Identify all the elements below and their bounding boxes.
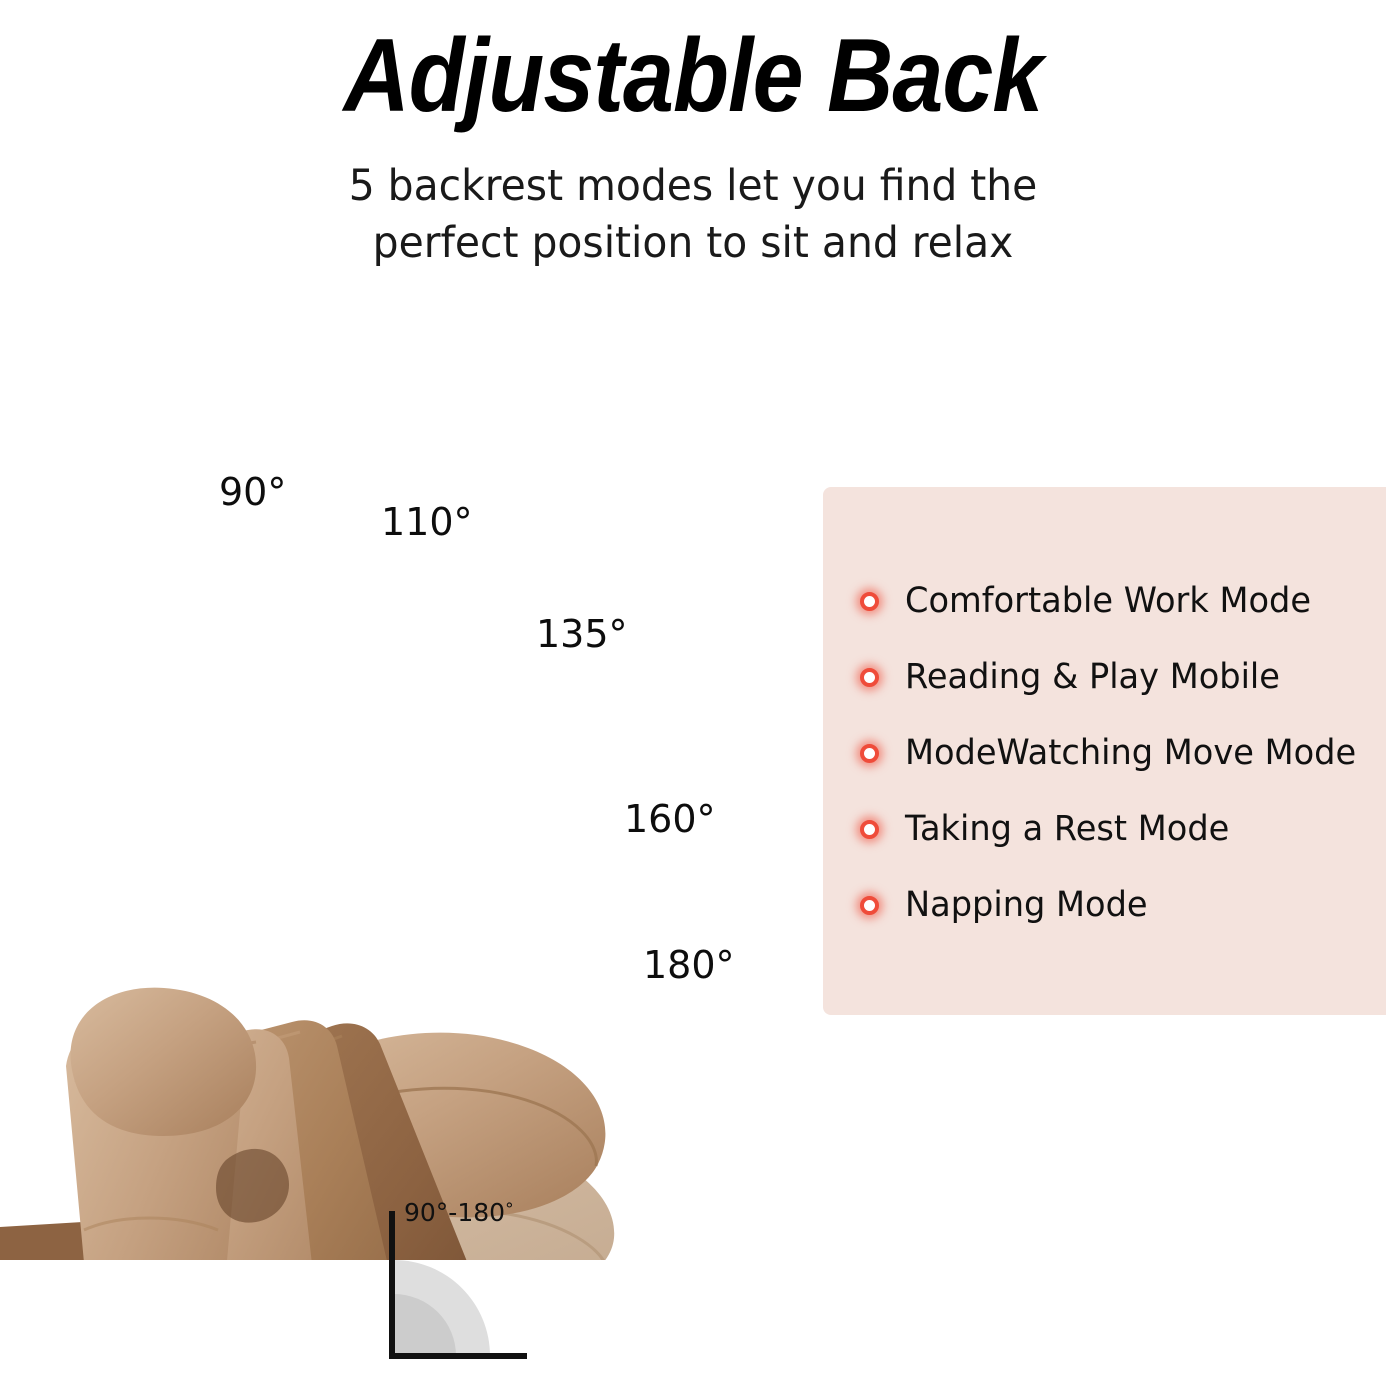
mode-list-item[interactable]: Taking a Rest Mode — [858, 791, 1386, 867]
mode-label: Napping Mode — [905, 888, 1148, 923]
mode-list-item[interactable]: Comfortable Work Mode — [858, 563, 1386, 639]
angle-label-160: 160° — [624, 797, 716, 841]
angle-label-135: 135° — [536, 612, 628, 656]
mode-label: Reading & Play Mobile — [905, 660, 1280, 695]
bullet-dot-icon — [858, 894, 880, 916]
infographic-canvas: Adjustable Back 5 backrest modes let you… — [0, 0, 1386, 1386]
subtitle-line-2: perfect position to sit and relax — [35, 215, 1352, 272]
bullet-dot-icon — [858, 590, 880, 612]
angle-range-arc-graphic — [378, 1210, 538, 1366]
angle-label-110: 110° — [381, 500, 473, 544]
page-title: Adjustable Back — [83, 22, 1303, 131]
mode-list-item[interactable]: ModeWatching Move Mode — [858, 715, 1386, 791]
angle-range-diagram: 90°-180° — [378, 1198, 538, 1366]
bullet-dot-icon — [858, 666, 880, 688]
modes-panel: Comfortable Work Mode Reading & Play Mob… — [823, 487, 1386, 1015]
backrest-headrest — [71, 988, 257, 1136]
mode-list-item[interactable]: Napping Mode — [858, 867, 1386, 943]
angle-label-90: 90° — [219, 470, 286, 514]
mode-list-item[interactable]: Reading & Play Mobile — [858, 639, 1386, 715]
recliner-chair-illustration — [0, 470, 780, 1260]
mode-label: Comfortable Work Mode — [905, 584, 1311, 619]
mode-label: Taking a Rest Mode — [905, 812, 1229, 847]
subtitle-line-1: 5 backrest modes let you find the — [35, 158, 1352, 215]
mode-label: ModeWatching Move Mode — [905, 736, 1356, 771]
modes-list: Comfortable Work Mode Reading & Play Mob… — [858, 563, 1386, 943]
bullet-dot-icon — [858, 742, 880, 764]
angle-label-180: 180° — [643, 943, 735, 987]
page-subtitle: 5 backrest modes let you find the perfec… — [35, 158, 1352, 272]
bullet-dot-icon — [858, 818, 880, 840]
